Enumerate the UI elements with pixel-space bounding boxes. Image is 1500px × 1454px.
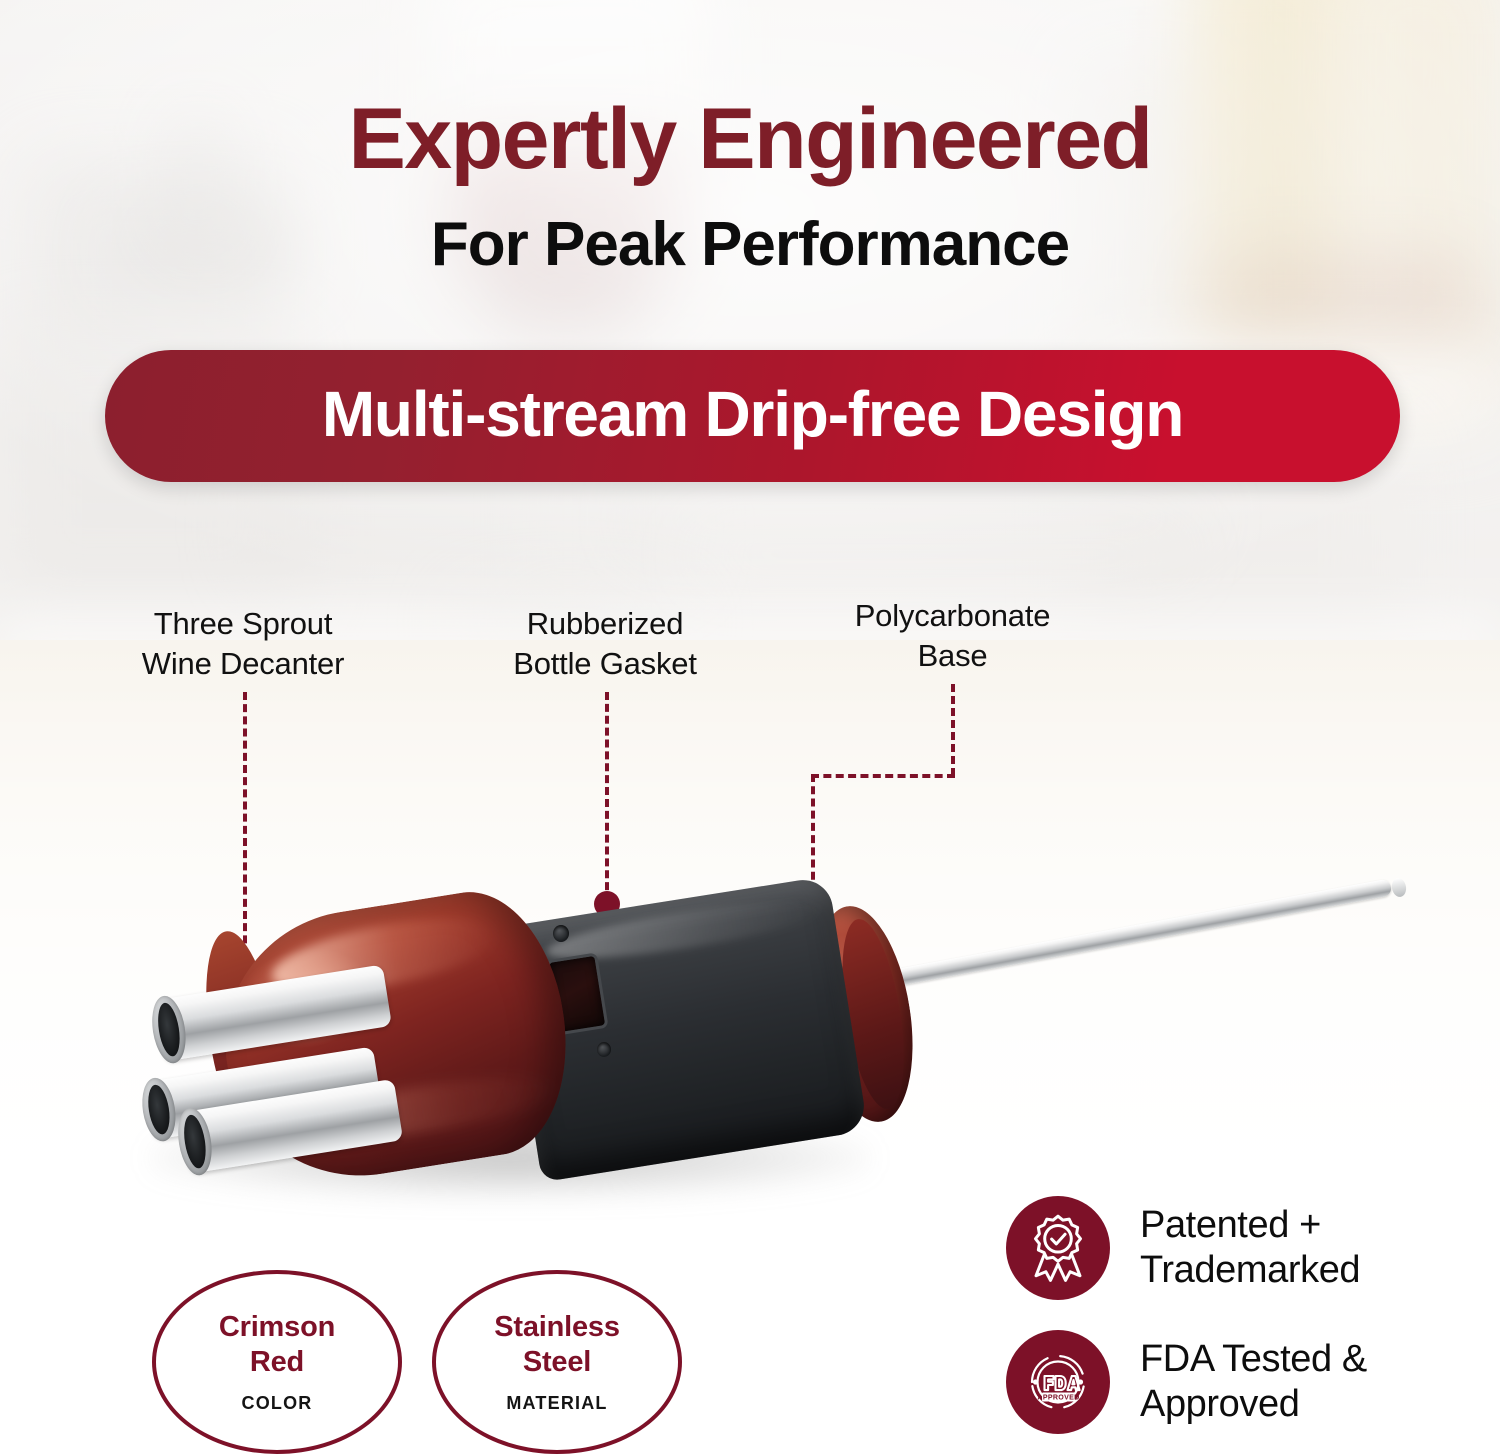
long-stainless-tube	[846, 878, 1392, 994]
spec-badge-title: Stainless Steel	[494, 1310, 620, 1378]
award-ribbon-icon	[1006, 1196, 1110, 1300]
spec-badge-color: Crimson Red COLOR	[152, 1270, 402, 1454]
spec-badge-caption: COLOR	[242, 1393, 313, 1414]
certification-label: Patented + Trademarked	[1140, 1203, 1360, 1293]
certification-label: FDA Tested & Approved	[1140, 1337, 1367, 1427]
spec-badge-material: Stainless Steel MATERIAL	[432, 1270, 682, 1454]
certification-fda-tested-approved: APPROVED FDA Tested & Approved	[1006, 1330, 1367, 1434]
fda-approved-seal-icon: APPROVED	[1006, 1330, 1110, 1434]
tube-end-cap	[1390, 877, 1407, 898]
certification-patented-trademarked: Patented + Trademarked	[1006, 1196, 1360, 1300]
barrel-vent-hole-top	[553, 925, 569, 942]
barrel-vent-hole-bottom	[597, 1042, 611, 1057]
spec-badge-caption: MATERIAL	[506, 1393, 607, 1414]
spec-badge-title: Crimson Red	[219, 1310, 335, 1378]
svg-text:APPROVED: APPROVED	[1037, 1394, 1079, 1402]
